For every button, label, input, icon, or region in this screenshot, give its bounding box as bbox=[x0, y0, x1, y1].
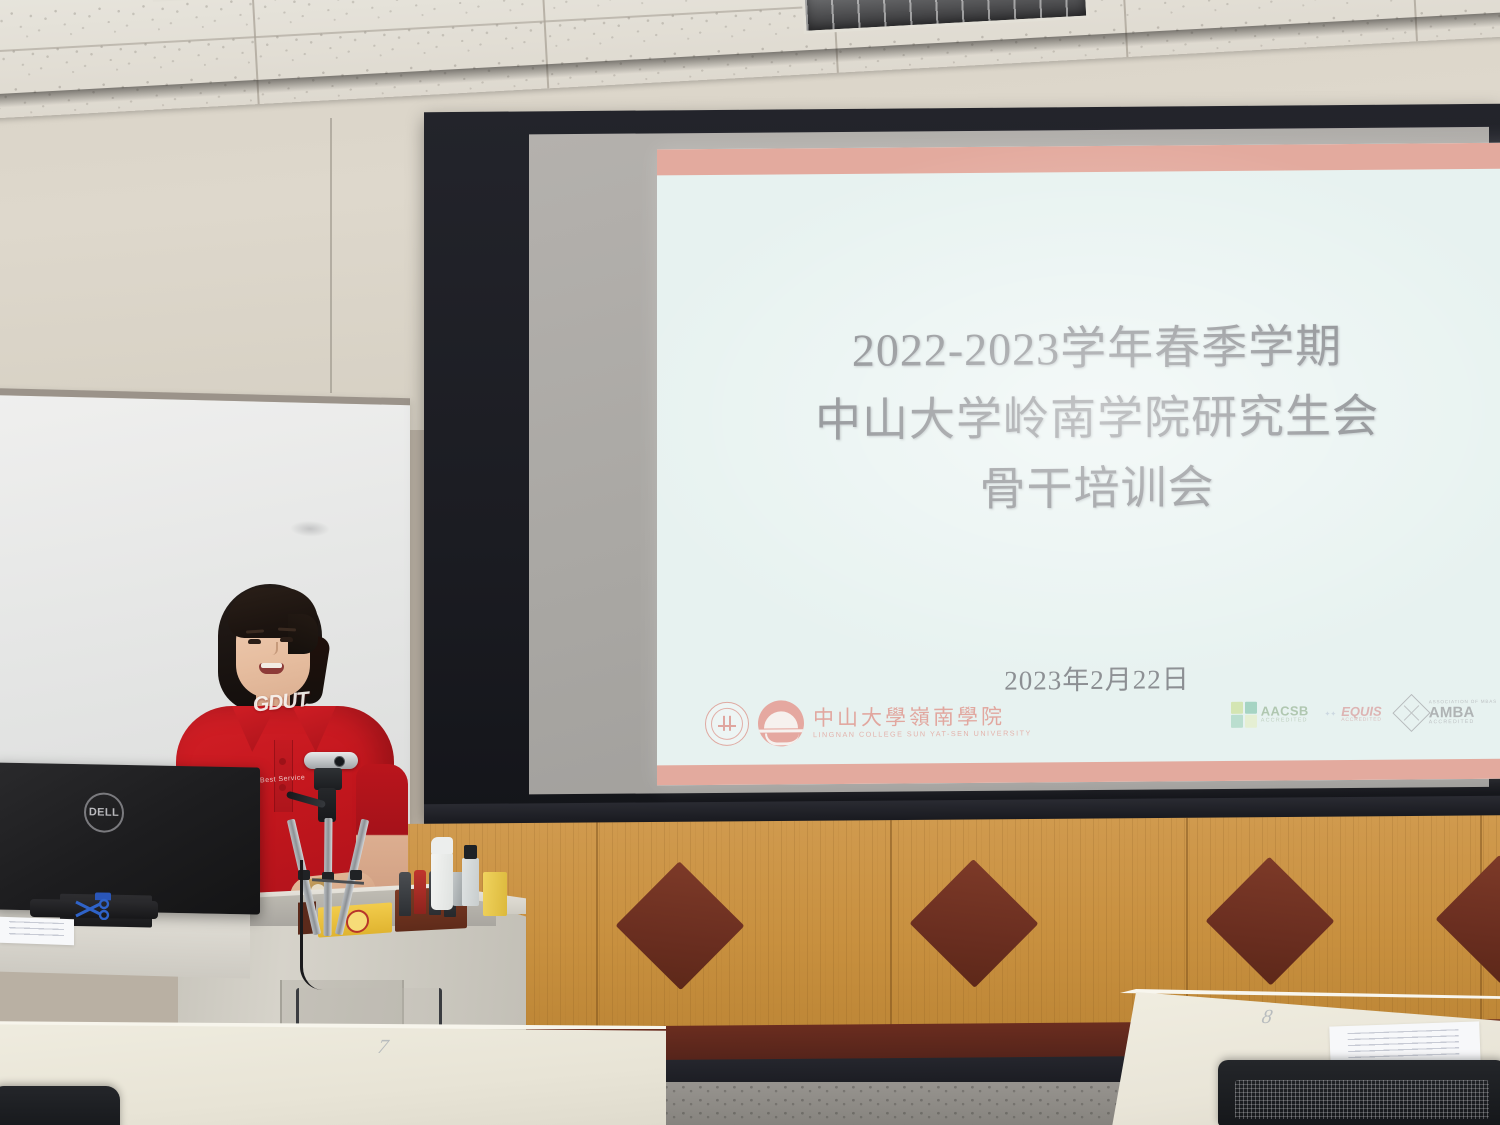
presenter-hair-front bbox=[228, 588, 318, 638]
seat-number-label: 7 bbox=[376, 1036, 390, 1059]
amba-name: AMBA bbox=[1429, 704, 1497, 720]
projection-screen-frame: 2022-2023学年春季学期 中山大学岭南学院研究生会 骨干培训会 2023年… bbox=[424, 104, 1500, 819]
shirt-button bbox=[279, 784, 286, 791]
presenter-eye-right bbox=[280, 637, 293, 642]
pump-head-icon bbox=[431, 837, 453, 854]
slide-title-line-3: 骨干培训会 bbox=[657, 450, 1500, 527]
hand-sanitizer-bottle bbox=[431, 852, 453, 910]
desk-paper bbox=[0, 917, 74, 946]
tripod-leg-collar bbox=[350, 870, 362, 880]
university-seal-icon bbox=[705, 702, 749, 746]
projected-slide: 2022-2023学年春季学期 中山大学岭南学院研究生会 骨干培训会 2023年… bbox=[657, 142, 1500, 785]
paper-text-lines bbox=[9, 921, 64, 940]
seat-number-label: 8 bbox=[1260, 1006, 1274, 1029]
scissors bbox=[74, 898, 110, 920]
camera-lens-icon bbox=[334, 756, 345, 767]
dell-monitor: DELL bbox=[0, 762, 260, 914]
amba-text: ASSOCIATION OF MBAS AMBA ACCREDITED bbox=[1429, 700, 1497, 725]
lingnan-english-name: LINGNAN COLLEGE SUN YAT-SEN UNIVERSITY bbox=[813, 729, 1032, 738]
aacsb-name: AACSB bbox=[1261, 704, 1309, 717]
accreditation-logos: AACSB ACCREDITED ✦✦ EQUIS ACCREDITED bbox=[1231, 699, 1497, 728]
slide-footer: 中山大學嶺南學院 LINGNAN COLLEGE SUN YAT-SEN UNI… bbox=[657, 688, 1500, 765]
right-mesh-chair[interactable] bbox=[1218, 1060, 1500, 1125]
slide-title-line-2: 中山大学岭南学院研究生会 bbox=[657, 380, 1500, 457]
slide-title-line-1: 2022-2023学年春季学期 bbox=[657, 310, 1500, 387]
slide-top-accent-bar bbox=[657, 142, 1500, 175]
presenter-eye-left bbox=[248, 639, 261, 644]
marker-pen bbox=[414, 870, 426, 914]
aacsb-text: AACSB ACCREDITED bbox=[1261, 704, 1309, 724]
lingnan-wave-shape bbox=[765, 733, 799, 745]
equis-stars-icon: ✦✦ bbox=[1325, 710, 1337, 718]
amba-diamond-icon bbox=[1392, 694, 1430, 732]
wall-seam bbox=[330, 118, 332, 393]
lingnan-arc-shape bbox=[764, 711, 798, 728]
chair-mesh-texture bbox=[1235, 1080, 1488, 1120]
aacsb-sub: ACCREDITED bbox=[1261, 718, 1309, 724]
aacsb-logo: AACSB ACCREDITED bbox=[1231, 701, 1309, 728]
aacsb-squares-icon bbox=[1231, 701, 1257, 727]
amba-logo: ASSOCIATION OF MBAS AMBA ACCREDITED bbox=[1398, 699, 1497, 727]
whiteboard-smudge bbox=[290, 520, 330, 537]
lingnan-band-shape bbox=[758, 729, 804, 732]
bottle-cap-icon bbox=[464, 845, 477, 859]
equis-sub: ACCREDITED bbox=[1341, 717, 1382, 722]
camera-cable bbox=[300, 860, 323, 990]
projection-screen-surface: 2022-2023学年春季学期 中山大学岭南学院研究生会 骨干培训会 2023年… bbox=[529, 127, 1489, 795]
slide-title: 2022-2023学年春季学期 中山大学岭南学院研究生会 骨干培训会 bbox=[657, 310, 1500, 527]
scissors-icon bbox=[74, 898, 110, 920]
lingnan-college-logo: 中山大學嶺南學院 LINGNAN COLLEGE SUN YAT-SEN UNI… bbox=[705, 698, 1032, 747]
lingnan-emblem-icon bbox=[758, 700, 804, 746]
lingnan-chinese-name: 中山大學嶺南學院 bbox=[813, 706, 1032, 729]
left-chair[interactable] bbox=[0, 1086, 120, 1125]
amba-sub: ACCREDITED bbox=[1429, 719, 1497, 725]
spray-bottle bbox=[462, 858, 479, 906]
yellow-tube-item bbox=[483, 872, 507, 916]
equis-name: EQUIS bbox=[1341, 704, 1382, 717]
dell-logo-icon: DELL bbox=[84, 792, 124, 833]
equis-text: EQUIS ACCREDITED bbox=[1341, 704, 1382, 722]
lingnan-wordmark: 中山大學嶺南學院 LINGNAN COLLEGE SUN YAT-SEN UNI… bbox=[813, 706, 1032, 738]
webcam-icon bbox=[304, 752, 358, 769]
paper-text-lines bbox=[1348, 1029, 1460, 1061]
camera-mount bbox=[314, 768, 342, 790]
lecture-hall-scene: 2022-2023学年春季学期 中山大学岭南学院研究生会 骨干培训会 2023年… bbox=[0, 0, 1500, 1125]
presenter-mouth bbox=[259, 663, 284, 674]
equis-logo: ✦✦ EQUIS ACCREDITED bbox=[1325, 704, 1382, 722]
